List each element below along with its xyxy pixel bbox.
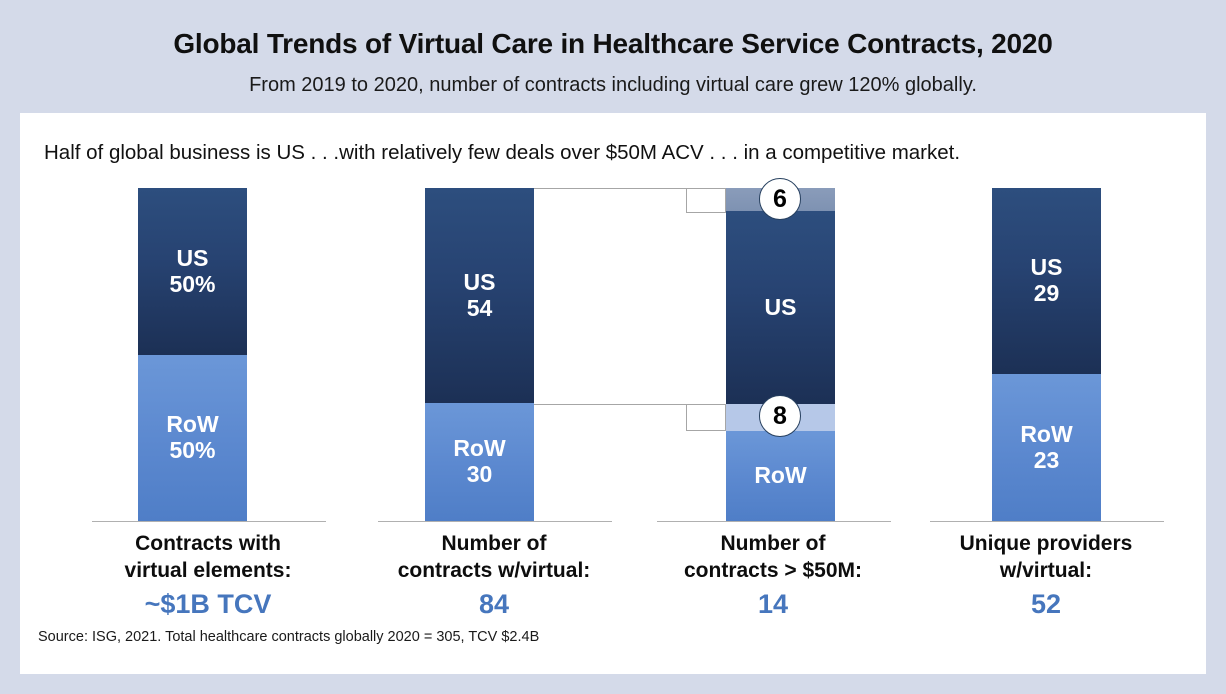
stacked-bar: US 29 RoW 23 — [992, 188, 1101, 521]
stacked-bar: US 54 RoW 30 — [425, 188, 534, 521]
stacked-bar: US RoW — [726, 188, 835, 521]
chart-column-number-of-contracts-with-virtual: US 54 RoW 30 Number of contracts w/virtu… — [354, 113, 634, 674]
bar-segment-row: RoW 50% — [138, 355, 247, 521]
column-total-value: ~$1B TCV — [68, 589, 348, 620]
column-caption-line1: Number of — [633, 531, 913, 558]
column-caption: Number of contracts > $50M: 14 — [633, 531, 913, 620]
column-caption: Number of contracts w/virtual: 84 — [354, 531, 634, 620]
column-total-value: 52 — [906, 589, 1186, 620]
bar-segment-us: US 29 — [992, 188, 1101, 374]
segment-label-value: 50% — [169, 272, 215, 298]
bar-segment-row: RoW — [726, 431, 835, 521]
bar-segment-row: RoW 30 — [425, 403, 534, 521]
source-note: Source: ISG, 2021. Total healthcare cont… — [38, 629, 539, 645]
content-card: Half of global business is US . . .with … — [20, 113, 1206, 674]
column-axis-line — [657, 521, 891, 522]
page-title: Global Trends of Virtual Care in Healthc… — [0, 28, 1226, 60]
column-axis-line — [378, 521, 612, 522]
chart-column-contracts-with-virtual-elements: US 50% RoW 50% Contracts with virtual el… — [68, 113, 348, 674]
segment-label-name: US — [1031, 255, 1063, 281]
segment-label-name: RoW — [754, 463, 806, 489]
column-caption-line1: Unique providers — [906, 531, 1186, 558]
column-caption-line1: Contracts with — [68, 531, 348, 558]
column-total-value: 84 — [354, 589, 634, 620]
segment-label-value: 23 — [1034, 448, 1060, 474]
segment-label-name: US — [177, 246, 209, 272]
column-caption-line1: Number of — [354, 531, 634, 558]
segment-label-name: RoW — [166, 412, 218, 438]
chart-column-unique-providers-with-virtual: US 29 RoW 23 Unique providers w/virtual:… — [906, 113, 1186, 674]
bar-segment-row: RoW 23 — [992, 374, 1101, 521]
segment-label-value: 29 — [1034, 281, 1060, 307]
infographic-root: Global Trends of Virtual Care in Healthc… — [0, 0, 1226, 694]
callout-badge-row-over-50m: 8 — [759, 395, 801, 437]
segment-label-value: 54 — [467, 296, 493, 322]
segment-label-name: RoW — [1020, 422, 1072, 448]
column-caption-line2: contracts w/virtual: — [354, 558, 634, 585]
column-caption-line2: virtual elements: — [68, 558, 348, 585]
column-caption-line2: contracts > $50M: — [633, 558, 913, 585]
column-caption: Contracts with virtual elements: ~$1B TC… — [68, 531, 348, 620]
segment-label-value: 50% — [169, 438, 215, 464]
column-axis-line — [92, 521, 326, 522]
bar-segment-us: US 54 — [425, 188, 534, 403]
segment-label-name: RoW — [453, 436, 505, 462]
column-total-value: 14 — [633, 589, 913, 620]
bar-segment-us: US — [726, 211, 835, 404]
column-axis-line — [930, 521, 1164, 522]
segment-label-value: 30 — [467, 462, 493, 488]
page-subtitle: From 2019 to 2020, number of contracts i… — [0, 74, 1226, 97]
segment-label-name: US — [765, 295, 797, 321]
stacked-bar: US 50% RoW 50% — [138, 188, 247, 521]
chart-plot-area: US 50% RoW 50% Contracts with virtual el… — [20, 113, 1206, 674]
column-caption: Unique providers w/virtual: 52 — [906, 531, 1186, 620]
bar-segment-us: US 50% — [138, 188, 247, 355]
chart-column-number-of-contracts-over-50m: US RoW 6 8 Number of contracts > $50M: 1… — [633, 113, 913, 674]
callout-badge-us-over-50m: 6 — [759, 178, 801, 220]
header-band: Global Trends of Virtual Care in Healthc… — [0, 0, 1226, 113]
column-caption-line2: w/virtual: — [906, 558, 1186, 585]
segment-label-name: US — [464, 270, 496, 296]
